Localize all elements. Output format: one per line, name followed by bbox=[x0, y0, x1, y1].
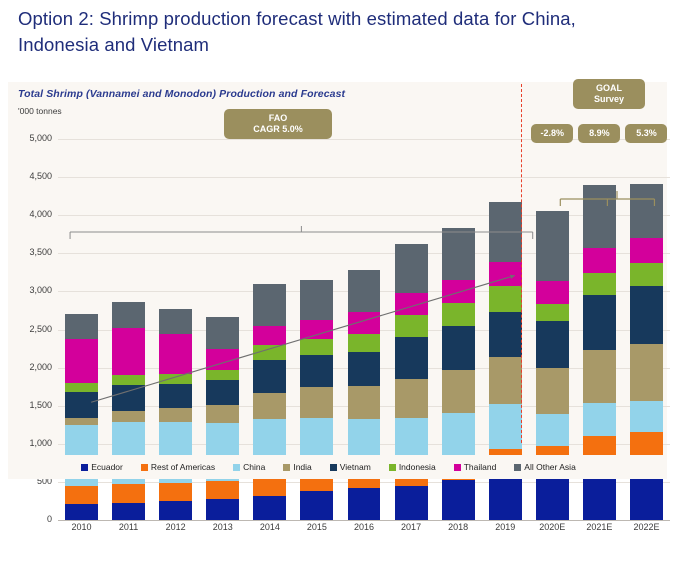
legend-swatch-icon bbox=[283, 464, 290, 471]
bar-segment-rest-of-americas bbox=[253, 477, 286, 495]
bar-segment-thailand bbox=[348, 312, 381, 333]
x-axis-tick-2017: 2017 bbox=[388, 522, 435, 532]
y-axis-units: '000 tonnes bbox=[18, 106, 62, 116]
x-axis-tick-2010: 2010 bbox=[58, 522, 105, 532]
fao-callout-line2: CAGR 5.0% bbox=[253, 124, 303, 135]
bar-segment-indonesia bbox=[630, 263, 663, 286]
goal-pct-2022: 5.3% bbox=[625, 124, 667, 143]
bar-segment-ecuador bbox=[395, 486, 428, 520]
bar-segment-thailand bbox=[442, 280, 475, 304]
legend-label: Rest of Americas bbox=[151, 462, 215, 472]
legend-item-rest-of-americas[interactable]: Rest of Americas bbox=[141, 462, 215, 472]
bar-segment-indonesia bbox=[65, 383, 98, 392]
bar-segment-all-other-asia bbox=[348, 270, 381, 312]
bar-segment-indonesia bbox=[583, 273, 616, 295]
bar-segment-thailand bbox=[489, 262, 522, 286]
bar-segment-indonesia bbox=[489, 286, 522, 311]
x-axis-tick-2014: 2014 bbox=[246, 522, 293, 532]
bar-segment-india bbox=[442, 370, 475, 413]
slide: Option 2: Shrimp production forecast wit… bbox=[0, 0, 675, 490]
bar-segment-thailand bbox=[536, 281, 569, 304]
bar-segment-rest-of-americas bbox=[65, 486, 98, 505]
x-axis-tick-2021E: 2021E bbox=[576, 522, 623, 532]
bar-segment-all-other-asia bbox=[159, 309, 192, 335]
bar-segment-all-other-asia bbox=[630, 184, 663, 237]
bar-segment-vietnam bbox=[159, 384, 192, 409]
legend-swatch-icon bbox=[141, 464, 148, 471]
bar-segment-indonesia bbox=[442, 303, 475, 326]
bar-segment-ecuador bbox=[348, 488, 381, 520]
y-axis-tick-4000: 4,000 bbox=[12, 209, 52, 219]
bar-segment-all-other-asia bbox=[536, 211, 569, 280]
bar-segment-ecuador bbox=[253, 496, 286, 520]
bar-segment-rest-of-americas bbox=[159, 483, 192, 501]
y-axis-tick-3000: 3,000 bbox=[12, 285, 52, 295]
bar-segment-ecuador bbox=[300, 491, 333, 520]
goal-pct-2021: 8.9% bbox=[578, 124, 620, 143]
legend-item-india[interactable]: India bbox=[283, 462, 311, 472]
bar-segment-indonesia bbox=[253, 345, 286, 360]
legend-item-all-other-asia[interactable]: All Other Asia bbox=[514, 462, 576, 472]
legend-label: Indonesia bbox=[399, 462, 436, 472]
bar-segment-india bbox=[253, 393, 286, 420]
x-axis-tick-2018: 2018 bbox=[435, 522, 482, 532]
bar-segment-thailand bbox=[395, 293, 428, 316]
bar-column-2012 bbox=[159, 309, 192, 520]
bar-segment-india bbox=[300, 387, 333, 417]
bar-segment-india bbox=[348, 386, 381, 419]
legend-label: Thailand bbox=[464, 462, 497, 472]
bar-segment-china bbox=[536, 414, 569, 446]
bar-segment-vietnam bbox=[65, 392, 98, 418]
bar-segment-china bbox=[583, 403, 616, 436]
bar-segment-indonesia bbox=[348, 334, 381, 352]
bar-segment-china bbox=[630, 401, 663, 432]
bar-segment-all-other-asia bbox=[206, 317, 239, 349]
bar-segment-indonesia bbox=[112, 375, 145, 385]
bar-segment-indonesia bbox=[300, 339, 333, 355]
bar-segment-ecuador bbox=[65, 504, 98, 520]
bar-segment-india bbox=[159, 408, 192, 422]
bar-segment-china bbox=[442, 413, 475, 460]
bar-segment-indonesia bbox=[206, 370, 239, 380]
goal-callout-line1: GOAL bbox=[594, 83, 624, 94]
bar-segment-all-other-asia bbox=[395, 244, 428, 293]
legend-swatch-icon bbox=[454, 464, 461, 471]
legend-swatch-icon bbox=[330, 464, 337, 471]
y-axis-tick-5000: 5,000 bbox=[12, 133, 52, 143]
bar-segment-thailand bbox=[65, 339, 98, 384]
y-axis-tick-2500: 2,500 bbox=[12, 324, 52, 334]
bar-segment-vietnam bbox=[206, 380, 239, 405]
bar-segment-all-other-asia bbox=[112, 302, 145, 328]
chart-legend: EcuadorRest of AmericasChinaIndiaVietnam… bbox=[8, 455, 667, 479]
bar-segment-thailand bbox=[159, 334, 192, 374]
bar-segment-ecuador bbox=[159, 501, 192, 520]
bar-segment-thailand bbox=[630, 238, 663, 263]
legend-swatch-icon bbox=[81, 464, 88, 471]
forecast-divider-line bbox=[521, 84, 522, 443]
bar-segment-vietnam bbox=[253, 360, 286, 393]
bar-segment-india bbox=[206, 405, 239, 423]
bar-column-2015 bbox=[300, 280, 333, 520]
legend-swatch-icon bbox=[233, 464, 240, 471]
bar-segment-all-other-asia bbox=[442, 228, 475, 279]
chart-panel: Total Shrimp (Vannamei and Monodon) Prod… bbox=[8, 82, 667, 455]
bar-segment-vietnam bbox=[112, 385, 145, 411]
bar-segment-all-other-asia bbox=[253, 284, 286, 326]
y-axis-tick-2000: 2,000 bbox=[12, 362, 52, 372]
bar-column-2014 bbox=[253, 284, 286, 520]
bar-column-2011 bbox=[112, 302, 145, 520]
bar-segment-india bbox=[112, 411, 145, 422]
goal-survey-callout: GOAL Survey bbox=[573, 79, 645, 109]
y-axis-tick-1500: 1,500 bbox=[12, 400, 52, 410]
legend-label: All Other Asia bbox=[524, 462, 576, 472]
x-axis-tick-2013: 2013 bbox=[199, 522, 246, 532]
x-axis-tick-2022E: 2022E bbox=[623, 522, 670, 532]
y-axis-tick-3500: 3,500 bbox=[12, 247, 52, 257]
bar-segment-indonesia bbox=[159, 374, 192, 384]
bar-segment-all-other-asia bbox=[583, 185, 616, 248]
bar-segment-india bbox=[65, 418, 98, 425]
bar-segment-all-other-asia bbox=[300, 280, 333, 320]
x-axis-tick-2015: 2015 bbox=[293, 522, 340, 532]
bar-segment-all-other-asia bbox=[65, 314, 98, 338]
bar-column-2016 bbox=[348, 270, 381, 520]
legend-item-china[interactable]: China bbox=[233, 462, 265, 472]
y-axis-tick-0: 0 bbox=[12, 514, 52, 524]
x-axis-tick-2012: 2012 bbox=[152, 522, 199, 532]
bar-segment-vietnam bbox=[583, 295, 616, 350]
bar-segment-china bbox=[489, 404, 522, 449]
bar-segment-ecuador bbox=[112, 503, 145, 520]
chart-subtitle: Total Shrimp (Vannamei and Monodon) Prod… bbox=[18, 88, 345, 100]
bar-segment-vietnam bbox=[348, 352, 381, 386]
legend-item-thailand[interactable]: Thailand bbox=[454, 462, 497, 472]
goal-callout-line2: Survey bbox=[594, 94, 624, 105]
x-axis-tick-2019: 2019 bbox=[482, 522, 529, 532]
legend-label: Vietnam bbox=[340, 462, 371, 472]
x-axis-tick-2020E: 2020E bbox=[529, 522, 576, 532]
bar-segment-thailand bbox=[206, 349, 239, 370]
bar-segment-india bbox=[395, 379, 428, 417]
bar-segment-india bbox=[536, 368, 569, 414]
legend-item-vietnam[interactable]: Vietnam bbox=[330, 462, 371, 472]
bar-segment-vietnam bbox=[395, 337, 428, 379]
fao-cagr-callout: FAO CAGR 5.0% bbox=[224, 109, 332, 139]
bar-segment-thailand bbox=[253, 326, 286, 345]
bar-segment-india bbox=[489, 357, 522, 403]
y-axis-tick-4500: 4,500 bbox=[12, 171, 52, 181]
goal-pct-2020: -2.8% bbox=[531, 124, 573, 143]
bar-segment-ecuador bbox=[442, 480, 475, 520]
legend-label: Ecuador bbox=[91, 462, 123, 472]
bar-segment-thailand bbox=[583, 248, 616, 273]
legend-label: China bbox=[243, 462, 265, 472]
bar-segment-indonesia bbox=[395, 315, 428, 337]
bar-segment-india bbox=[583, 350, 616, 403]
gridline bbox=[58, 520, 670, 521]
bar-segment-vietnam bbox=[300, 355, 333, 387]
bar-segment-vietnam bbox=[442, 326, 475, 370]
bar-segment-vietnam bbox=[489, 312, 522, 358]
bar-segment-india bbox=[630, 344, 663, 401]
legend-swatch-icon bbox=[389, 464, 396, 471]
y-axis-tick-1000: 1,000 bbox=[12, 438, 52, 448]
bar-segment-vietnam bbox=[536, 321, 569, 368]
bar-segment-rest-of-americas bbox=[112, 484, 145, 503]
bar-segment-thailand bbox=[300, 320, 333, 339]
page-title: Option 2: Shrimp production forecast wit… bbox=[18, 6, 638, 58]
legend-label: India bbox=[293, 462, 311, 472]
legend-item-ecuador[interactable]: Ecuador bbox=[81, 462, 123, 472]
bar-column-2010 bbox=[65, 314, 98, 520]
legend-swatch-icon bbox=[514, 464, 521, 471]
x-axis-tick-2016: 2016 bbox=[340, 522, 387, 532]
bar-segment-indonesia bbox=[536, 304, 569, 322]
legend-item-indonesia[interactable]: Indonesia bbox=[389, 462, 436, 472]
fao-callout-line1: FAO bbox=[253, 113, 303, 124]
bar-segment-ecuador bbox=[206, 499, 239, 520]
bar-segment-vietnam bbox=[630, 286, 663, 344]
x-axis-labels: 2010201120122013201420152016201720182019… bbox=[58, 522, 670, 538]
x-axis-tick-2011: 2011 bbox=[105, 522, 152, 532]
bar-segment-all-other-asia bbox=[489, 202, 522, 263]
bar-segment-thailand bbox=[112, 328, 145, 376]
